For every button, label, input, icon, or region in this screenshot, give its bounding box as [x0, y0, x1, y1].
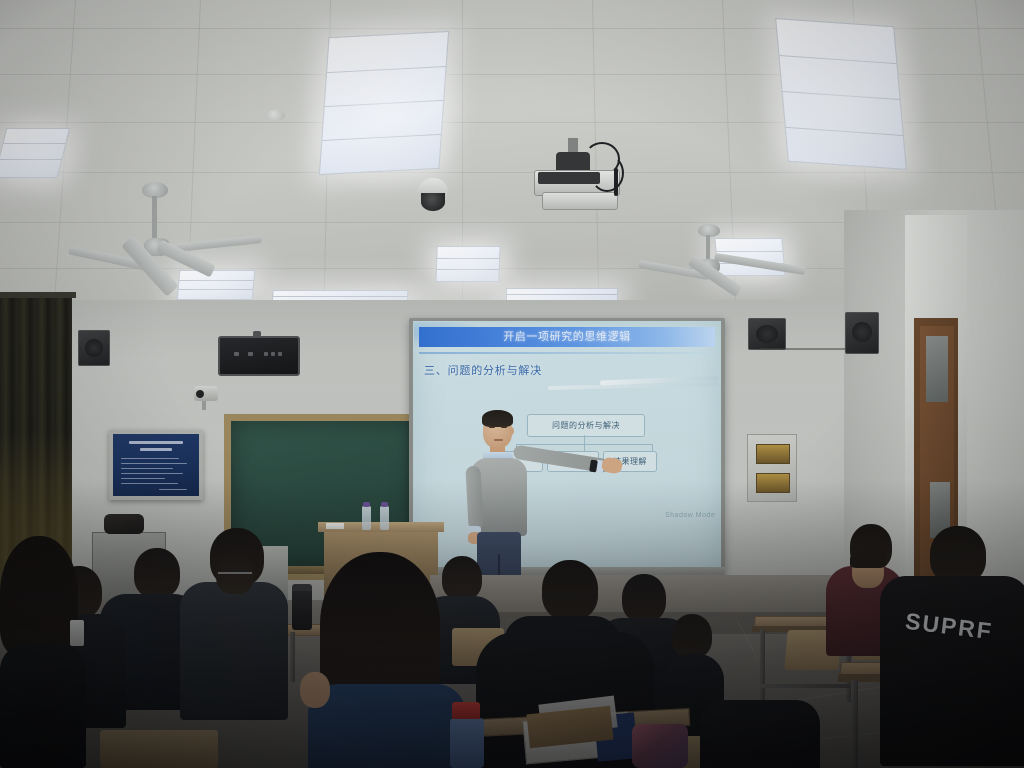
- bag-on-cabinet: [104, 514, 144, 534]
- student-hair-long: [0, 536, 78, 656]
- led-display-mount: [253, 331, 261, 337]
- colorful-bag: [632, 724, 688, 768]
- lectern-paper: [326, 523, 344, 529]
- wall-utility-panel: [747, 434, 797, 502]
- water-bottle-foreground[interactable]: [450, 718, 484, 768]
- ceiling-light-panel-4: [435, 246, 500, 282]
- student-hand-on-chin: [300, 672, 330, 708]
- slide-title-underline: [419, 352, 715, 354]
- notice-board: [109, 430, 203, 500]
- slide-watermark: Shadow Mode: [665, 512, 715, 519]
- desk-right-1-leg-a: [760, 630, 765, 708]
- glasses-icon: [218, 572, 252, 579]
- presenter-mouth: [494, 439, 503, 441]
- ceiling-projector: [528, 138, 636, 210]
- student-head: [134, 548, 180, 598]
- presenter-hair: [482, 410, 513, 427]
- ceiling-light-panel-1: [319, 31, 449, 175]
- slide-connector-drop-3: [652, 444, 653, 451]
- student-body: [180, 582, 288, 720]
- presenter-eye-left: [489, 426, 495, 428]
- thermos-lid: [292, 584, 312, 591]
- curtain-rail: [0, 292, 76, 298]
- audience-member-foreground: [298, 552, 466, 768]
- smoke-detector: [266, 110, 285, 121]
- audience-member-foreground-3: [700, 700, 820, 768]
- water-bottle-1[interactable]: [362, 506, 371, 530]
- slide-section-heading: 三、问题的分析与解决: [424, 362, 542, 378]
- presenter-eye-right: [501, 426, 507, 428]
- presenter-ear: [509, 427, 514, 435]
- audience-member: [0, 536, 82, 768]
- student-head: [622, 574, 666, 622]
- water-bottle-1-cap: [363, 502, 370, 507]
- student-head: [672, 614, 712, 658]
- student-hair-long: [320, 552, 440, 702]
- speaker-wire: [760, 348, 846, 350]
- water-bottle-2-cap: [381, 502, 388, 507]
- student-shoulder: [308, 684, 466, 768]
- audience-member-glasses: [212, 548, 258, 594]
- led-display: [218, 336, 300, 376]
- thermos-cup[interactable]: [292, 588, 312, 630]
- chair-mid-2[interactable]: [100, 730, 218, 768]
- slide-title: 开启一项研究的思维逻辑: [419, 328, 715, 346]
- wall-speaker-center-right: [748, 318, 786, 350]
- student-jacket: [880, 576, 1024, 766]
- door-glass-upper: [926, 336, 948, 402]
- small-bottle-left[interactable]: [70, 620, 84, 646]
- ceiling-fan-left: [126, 182, 286, 290]
- lecture-hall-photo: 开启一项研究的思维逻辑 三、问题的分析与解决 问题的分析与解决 方法设计 结果理…: [0, 0, 1024, 768]
- dome-surveillance-camera: [418, 178, 448, 214]
- water-bottle-2[interactable]: [380, 506, 389, 530]
- wall-speaker-left: [78, 330, 110, 366]
- desk-mid-1-leg: [290, 632, 295, 682]
- student-body: [0, 644, 86, 768]
- student-body: [700, 700, 820, 768]
- student-head: [542, 560, 598, 620]
- wall-speaker-far-right: [845, 312, 879, 354]
- wall-camera-bracket: [202, 401, 206, 410]
- wall-camera: [194, 386, 218, 401]
- ceiling-light-panel-2: [775, 18, 907, 170]
- water-bottle-foreground-cap: [452, 702, 480, 719]
